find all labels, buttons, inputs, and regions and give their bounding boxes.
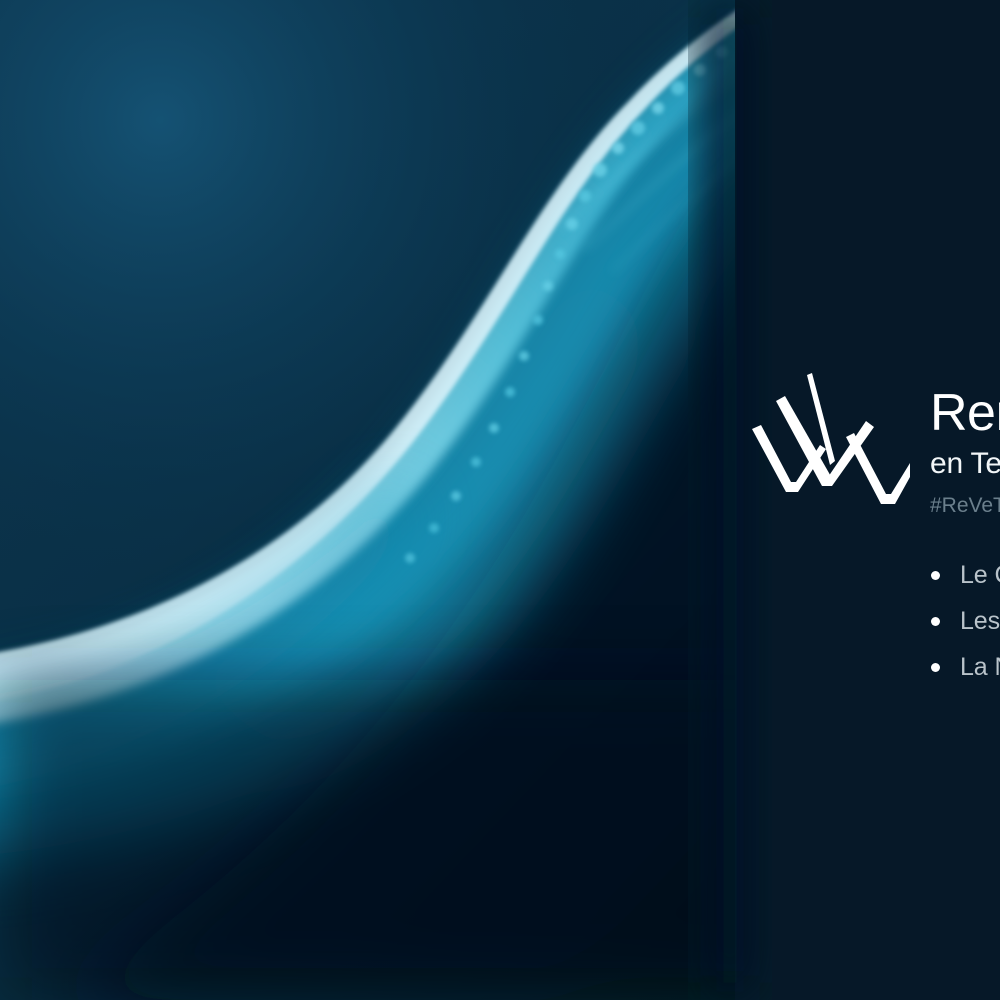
bullet-dot-icon — [931, 663, 940, 672]
list-item-label: La N — [960, 653, 1000, 682]
list-item: Les — [931, 598, 1000, 644]
list-item-label: Les — [960, 607, 1000, 636]
bullet-dot-icon — [931, 571, 940, 580]
three-chevrons-logo — [750, 365, 910, 510]
content-panel: Rem en Te #ReVeT Le C Les La N — [735, 0, 1000, 1000]
page-subtitle: en Te — [930, 447, 1000, 480]
list-item: La N — [931, 644, 1000, 690]
event-hashtag: #ReVeT — [930, 494, 1000, 517]
presentation-slide: Rem en Te #ReVeT Le C Les La N — [0, 0, 1000, 1000]
title-block: Rem en Te #ReVeT — [930, 386, 1000, 517]
list-item-label: Le C — [960, 561, 1000, 590]
page-title: Rem — [930, 386, 1000, 441]
list-item: Le C — [931, 552, 1000, 598]
bullet-dot-icon — [931, 617, 940, 626]
agenda-list: Le C Les La N — [931, 552, 1000, 690]
